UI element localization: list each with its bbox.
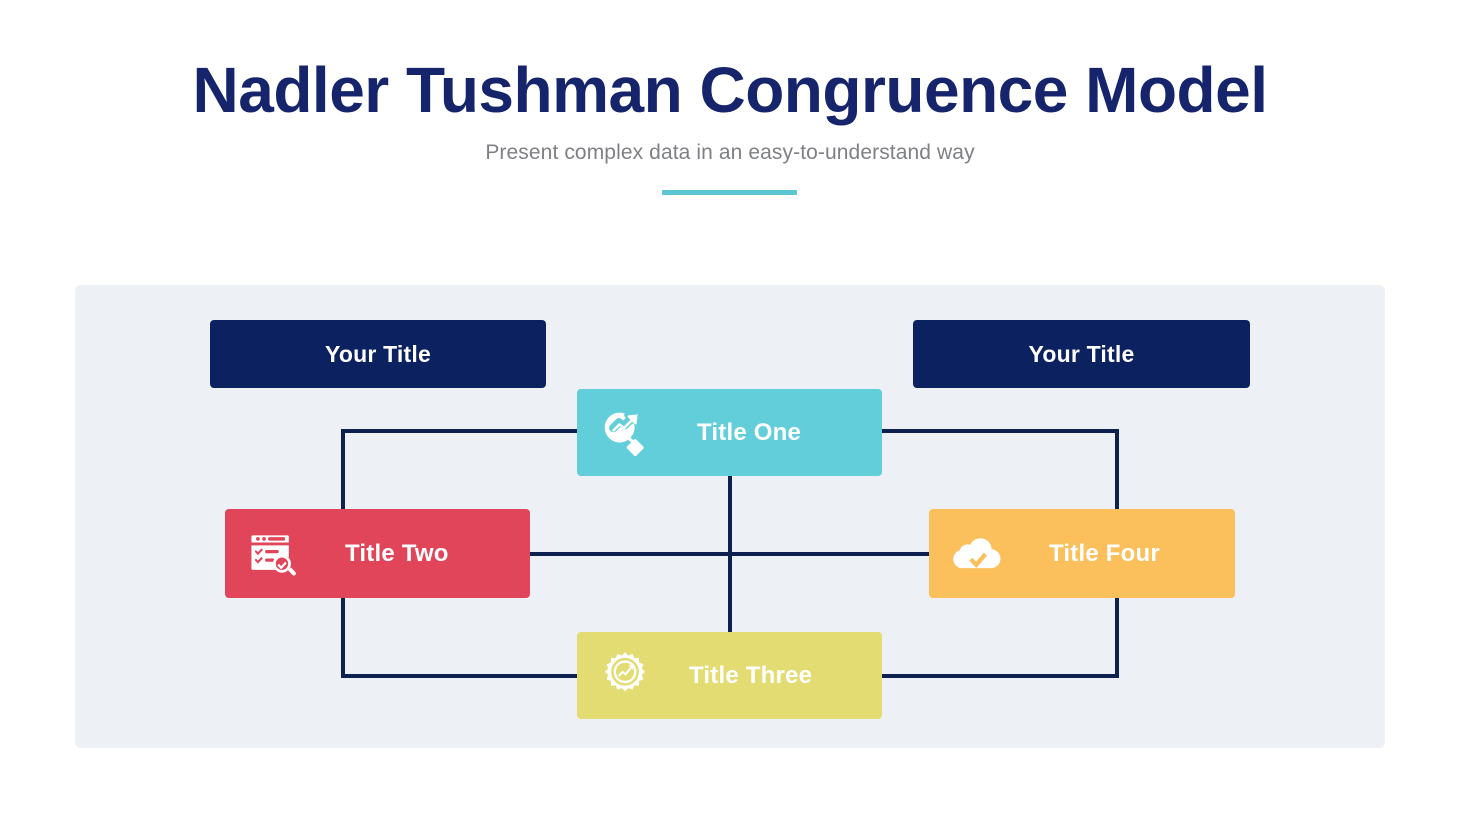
magnifier-growth-chart-icon xyxy=(577,410,673,456)
node-title-one-label: Title One xyxy=(697,419,801,447)
node-title-four-label: Title Four xyxy=(1049,540,1160,568)
title-accent-bar xyxy=(662,190,797,195)
node-title-three-label: Title Three xyxy=(689,662,812,690)
node-title-three[interactable]: Title Three xyxy=(577,632,882,719)
cloud-check-icon xyxy=(929,528,1025,580)
top-right-title-box[interactable]: Your Title xyxy=(913,320,1250,388)
node-title-two[interactable]: Title Two xyxy=(225,509,530,598)
node-title-two-label: Title Two xyxy=(345,540,449,568)
node-title-one[interactable]: Title One xyxy=(577,389,882,476)
page-subtitle: Present complex data in an easy-to-under… xyxy=(0,141,1460,165)
page-title: Nadler Tushman Congruence Model xyxy=(0,56,1460,125)
top-left-title-box[interactable]: Your Title xyxy=(210,320,546,388)
slide-canvas: Nadler Tushman Congruence Model Present … xyxy=(0,0,1460,821)
slide-header: Nadler Tushman Congruence Model Present … xyxy=(0,56,1460,165)
gear-growth-chart-icon xyxy=(577,651,673,701)
top-right-title-label: Your Title xyxy=(1029,341,1135,368)
node-title-four[interactable]: Title Four xyxy=(929,509,1235,598)
top-left-title-label: Your Title xyxy=(325,341,431,368)
checklist-window-search-icon xyxy=(225,531,321,577)
